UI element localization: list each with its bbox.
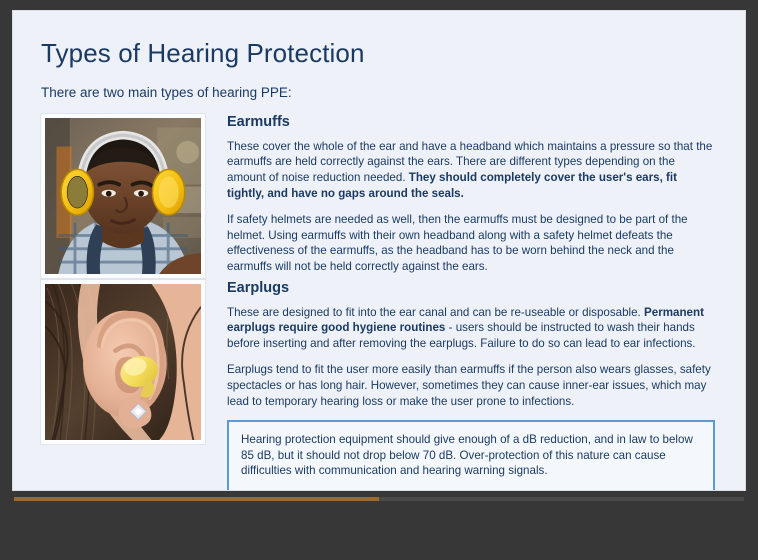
section-heading-earplugs: Earplugs: [227, 280, 715, 296]
course-player: Types of Hearing Protection There are tw…: [0, 0, 758, 560]
media-column-earmuffs: [41, 114, 213, 278]
paragraph-earmuffs-1: These cover the whole of the ear and hav…: [227, 139, 715, 201]
slide-content: Types of Hearing Protection There are tw…: [13, 11, 745, 491]
callout-box: Hearing protection equipment should give…: [227, 420, 715, 491]
image-ear-with-earplug: [41, 280, 205, 444]
player-toolbar: Page 9 of 18 50% Completed Prev Next: [0, 503, 758, 560]
slide-subtitle: There are two main types of hearing PPE:: [41, 85, 715, 100]
section-earmuffs: Earmuffs These cover the whole of the ea…: [41, 114, 715, 286]
slide-card: Types of Hearing Protection There are tw…: [12, 10, 746, 491]
paragraph-earplugs-1: These are designed to fit into the ear c…: [227, 305, 715, 352]
media-column-earplugs: [41, 280, 213, 444]
progress-fill: [14, 497, 379, 501]
text-column-earplugs: Earplugs These are designed to fit into …: [213, 280, 715, 491]
callout-text: Hearing protection equipment should give…: [241, 432, 701, 479]
page-title: Types of Hearing Protection: [41, 39, 715, 69]
paragraph-earplugs-2: Earplugs tend to fit the user more easil…: [227, 362, 715, 409]
paragraph-earmuffs-2: If safety helmets are needed as well, th…: [227, 212, 715, 274]
text-column-earmuffs: Earmuffs These cover the whole of the ea…: [213, 114, 715, 286]
section-earplugs: Earplugs These are designed to fit into …: [41, 280, 715, 491]
section-heading-earmuffs: Earmuffs: [227, 114, 715, 130]
progress-track: [14, 497, 744, 501]
image-worker-wearing-earmuffs: [41, 114, 205, 278]
